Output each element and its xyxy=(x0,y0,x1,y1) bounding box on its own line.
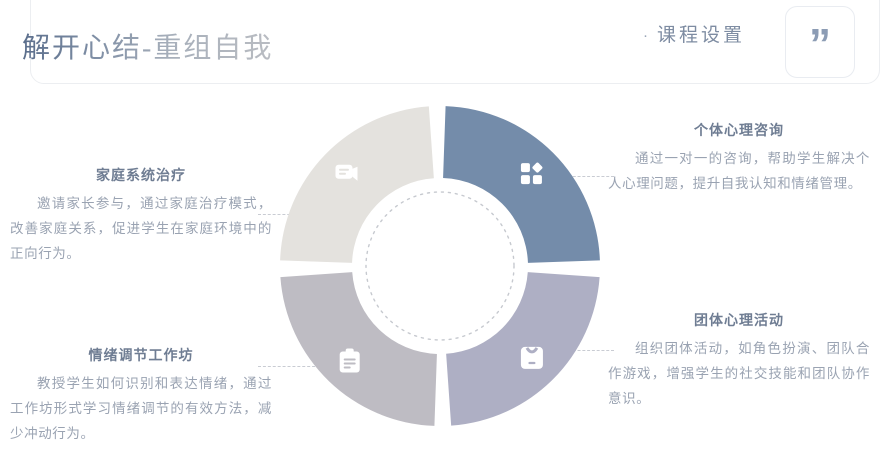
info-body-family: 邀请家长参与，通过家庭治疗模式，改善家庭关系，促进学生在家庭环境中的正向行为。 xyxy=(10,192,272,267)
info-title-emotion: 情绪调节工作坊 xyxy=(10,345,272,365)
info-body-emotion: 教授学生如何识别和表达情绪，通过工作坊形式学习情绪调节的有效方法，减少冲动行为。 xyxy=(10,372,272,447)
info-title-group: 团体心理活动 xyxy=(608,310,870,330)
quote-icon: ” xyxy=(786,23,854,67)
info-body-group: 组织团体活动，如角色扮演、团队合作游戏，增强学生的社交技能和团队协作意识。 xyxy=(608,337,870,412)
page-header: 解开心结-重组自我 ·课程设置 ” xyxy=(0,0,880,86)
donut-svg xyxy=(278,104,602,428)
clipboard-icon xyxy=(340,349,360,373)
info-title-individual: 个体心理咨询 xyxy=(608,120,870,140)
course-donut-chart: 心理辅导 课程 xyxy=(278,104,602,428)
info-block-family: 家庭系统治疗 邀请家长参与，通过家庭治疗模式，改善家庭关系，促进学生在家庭环境中… xyxy=(10,165,272,267)
info-block-individual: 个体心理咨询 通过一对一的咨询，帮助学生解决个人心理问题，提升自我认知和情绪管理… xyxy=(608,120,870,197)
section-eyebrow: ·课程设置 xyxy=(643,20,745,47)
eyebrow-label: 课程设置 xyxy=(657,25,745,46)
info-body-individual: 通过一对一的咨询，帮助学生解决个人心理问题，提升自我认知和情绪管理。 xyxy=(608,147,870,197)
info-block-group: 团体心理活动 组织团体活动，如角色扮演、团队合作游戏，增强学生的社交技能和团队协… xyxy=(608,310,870,412)
page-title: 解开心结-重组自我 xyxy=(22,26,273,66)
gift-box-icon xyxy=(521,347,543,369)
donut-hole xyxy=(362,188,518,344)
info-title-family: 家庭系统治疗 xyxy=(10,165,272,185)
quote-badge: ” xyxy=(785,6,855,78)
eyebrow-dot-icon: · xyxy=(643,29,651,45)
info-block-emotion: 情绪调节工作坊 教授学生如何识别和表达情绪，通过工作坊形式学习情绪调节的有效方法… xyxy=(10,345,272,447)
